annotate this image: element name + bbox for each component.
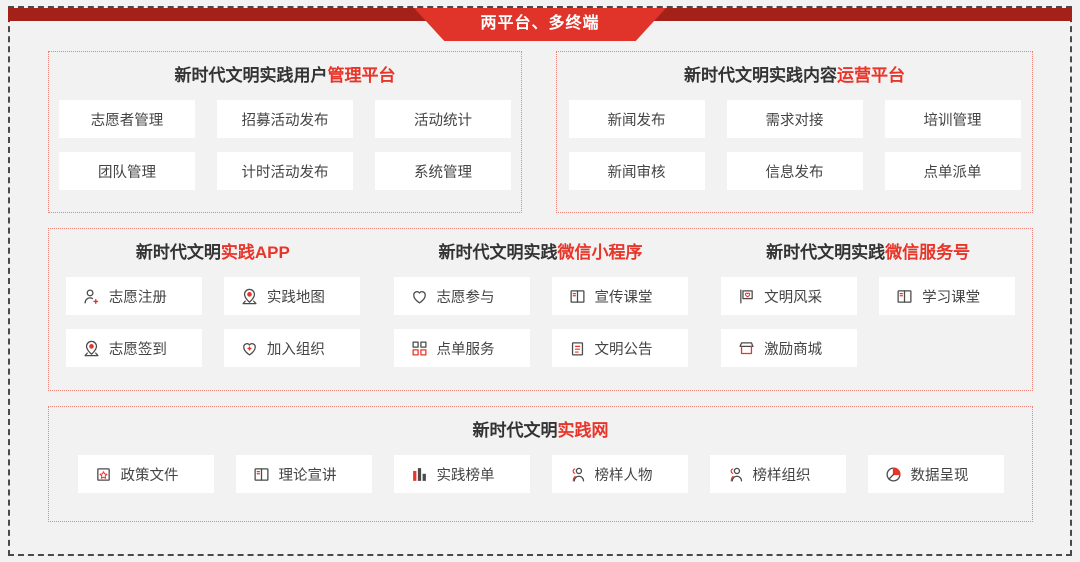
star-box-icon [95, 466, 112, 483]
tile-volunteer-management[interactable]: 志愿者管理 [59, 100, 195, 138]
panel-title-highlight: 微信服务号 [885, 243, 970, 262]
tile-label: 文明公告 [595, 338, 653, 359]
tile-grid: 志愿注册 实践地图 [66, 277, 360, 367]
tile-news-review[interactable]: 新闻审核 [569, 152, 705, 190]
flag-heart-icon [738, 288, 755, 305]
tile-label: 实践地图 [267, 286, 325, 307]
panel-title: 新时代文明实践内容运营平台 [557, 67, 1032, 84]
tile-grid: 志愿参与 宣传课堂 [394, 277, 688, 367]
panel-title: 新时代文明实践用户管理平台 [49, 67, 521, 84]
panel-user-management-platform: 新时代文明实践用户管理平台 志愿者管理 招募活动发布 活动统计 团队管理 计时活… [48, 51, 522, 213]
panel-title-highlight: 微信小程序 [558, 243, 643, 262]
panel-title-plain: 新时代文明 [136, 243, 221, 262]
tile-label: 数据呈现 [911, 464, 969, 485]
tile-label: 系统管理 [414, 161, 472, 182]
notice-icon [569, 340, 586, 357]
heart-add-icon [241, 340, 258, 357]
tile-label: 点单派单 [924, 161, 982, 182]
tile-theory-lecture[interactable]: 理论宣讲 [236, 455, 372, 493]
tile-team-management[interactable]: 团队管理 [59, 152, 195, 190]
terminal-column-miniprogram: 新时代文明实践微信小程序 志愿参与 [377, 244, 705, 367]
tile-recruit-activity-publish[interactable]: 招募活动发布 [217, 100, 353, 138]
panel-title-plain: 新时代文明实践用户 [175, 66, 328, 85]
book-icon [253, 466, 270, 483]
panel-title: 新时代文明实践微信服务号 [766, 244, 970, 261]
tile-label: 招募活动发布 [242, 109, 329, 130]
tile-policy-documents[interactable]: 政策文件 [78, 455, 214, 493]
panel-title-highlight: 实践网 [558, 421, 609, 440]
tile-grid: 政策文件 理论宣讲 [78, 455, 1004, 493]
tile-info-publish[interactable]: 信息发布 [727, 152, 863, 190]
tile-incentive-mall[interactable]: 激励商城 [721, 329, 857, 367]
tile-label: 理论宣讲 [279, 464, 337, 485]
panel-title: 新时代文明实践微信小程序 [439, 244, 643, 261]
tile-label: 学习课堂 [922, 286, 980, 307]
tile-order-dispatch[interactable]: 点单派单 [885, 152, 1021, 190]
tile-label: 政策文件 [121, 464, 179, 485]
heart-icon [411, 288, 428, 305]
people-icon [727, 466, 744, 483]
tile-placeholder [879, 329, 1015, 367]
tile-order-service[interactable]: 点单服务 [394, 329, 530, 367]
tile-label: 志愿参与 [437, 286, 495, 307]
infographic-root: 两平台、多终端 新时代文明实践用户管理平台 志愿者管理 招募活动发布 活动统计 … [0, 0, 1080, 562]
panel-title-plain: 新时代文明实践 [439, 243, 558, 262]
panel-title-plain: 新时代文明 [473, 421, 558, 440]
tile-label: 加入组织 [267, 338, 325, 359]
tile-label: 榜样人物 [595, 464, 653, 485]
tile-label: 榜样组织 [753, 464, 811, 485]
org-grid-icon [411, 340, 428, 357]
panel-title-highlight: 管理平台 [328, 66, 396, 85]
pie-chart-icon [885, 466, 902, 483]
tile-volunteer-participate[interactable]: 志愿参与 [394, 277, 530, 315]
tile-join-organization[interactable]: 加入组织 [224, 329, 360, 367]
tile-label: 激励商城 [764, 338, 822, 359]
tile-civilization-style[interactable]: 文明风采 [721, 277, 857, 315]
map-pin-icon [241, 288, 258, 305]
terminal-column-service-account: 新时代文明实践微信服务号 文明风采 [704, 244, 1032, 367]
panel-title-plain: 新时代文明实践 [766, 243, 885, 262]
tile-volunteer-checkin[interactable]: 志愿签到 [66, 329, 202, 367]
tile-practice-ranking[interactable]: 实践榜单 [394, 455, 530, 493]
tile-label: 文明风采 [764, 286, 822, 307]
tile-promotion-classroom[interactable]: 宣传课堂 [552, 277, 688, 315]
tile-label: 宣传课堂 [595, 286, 653, 307]
tile-label: 团队管理 [98, 161, 156, 182]
book-icon [896, 288, 913, 305]
tile-grid: 新闻发布 需求对接 培训管理 新闻审核 信息发布 点单派单 [569, 100, 1021, 190]
panel-title-plain: 新时代文明实践内容 [684, 66, 837, 85]
tile-demand-matching[interactable]: 需求对接 [727, 100, 863, 138]
tile-system-management[interactable]: 系统管理 [375, 152, 511, 190]
tile-training-management[interactable]: 培训管理 [885, 100, 1021, 138]
tile-study-classroom[interactable]: 学习课堂 [879, 277, 1015, 315]
tile-volunteer-register[interactable]: 志愿注册 [66, 277, 202, 315]
tile-grid: 志愿者管理 招募活动发布 活动统计 团队管理 计时活动发布 系统管理 [59, 100, 511, 190]
tile-label: 计时活动发布 [242, 161, 329, 182]
tile-news-publish[interactable]: 新闻发布 [569, 100, 705, 138]
tile-grid: 文明风采 学习课堂 [721, 277, 1015, 367]
bar-chart-icon [411, 466, 428, 483]
tile-practice-map[interactable]: 实践地图 [224, 277, 360, 315]
panel-content-operation-platform: 新时代文明实践内容运营平台 新闻发布 需求对接 培训管理 新闻审核 信息发布 点… [556, 51, 1033, 213]
tile-label: 新闻发布 [608, 109, 666, 130]
tile-label: 活动统计 [414, 109, 472, 130]
tile-label: 志愿签到 [109, 338, 167, 359]
tile-label: 志愿者管理 [91, 109, 164, 130]
tile-label: 需求对接 [766, 109, 824, 130]
book-icon [569, 288, 586, 305]
tile-data-presentation[interactable]: 数据呈现 [868, 455, 1004, 493]
panel-title-highlight: 实践APP [221, 243, 290, 262]
person-add-icon [83, 288, 100, 305]
panel-title: 新时代文明实践网 [49, 422, 1032, 439]
panel-website: 新时代文明实践网 政策文件 [48, 406, 1033, 522]
panel-title: 新时代文明实践APP [136, 244, 290, 261]
panel-title-highlight: 运营平台 [837, 66, 905, 85]
tile-label: 培训管理 [924, 109, 982, 130]
people-icon [569, 466, 586, 483]
tile-activity-statistics[interactable]: 活动统计 [375, 100, 511, 138]
shop-icon [738, 340, 755, 357]
tile-label: 新闻审核 [608, 161, 666, 182]
tile-label: 实践榜单 [437, 464, 495, 485]
terminal-column-app: 新时代文明实践APP 志愿注册 [49, 244, 377, 367]
tile-role-model-organization[interactable]: 榜样组织 [710, 455, 846, 493]
panel-terminals: 新时代文明实践APP 志愿注册 [48, 228, 1033, 391]
tile-role-model-person[interactable]: 榜样人物 [552, 455, 688, 493]
tile-timed-activity-publish[interactable]: 计时活动发布 [217, 152, 353, 190]
map-pin-icon [83, 340, 100, 357]
tile-label: 志愿注册 [109, 286, 167, 307]
tile-label: 信息发布 [766, 161, 824, 182]
tile-label: 点单服务 [437, 338, 495, 359]
tile-civilization-notice[interactable]: 文明公告 [552, 329, 688, 367]
